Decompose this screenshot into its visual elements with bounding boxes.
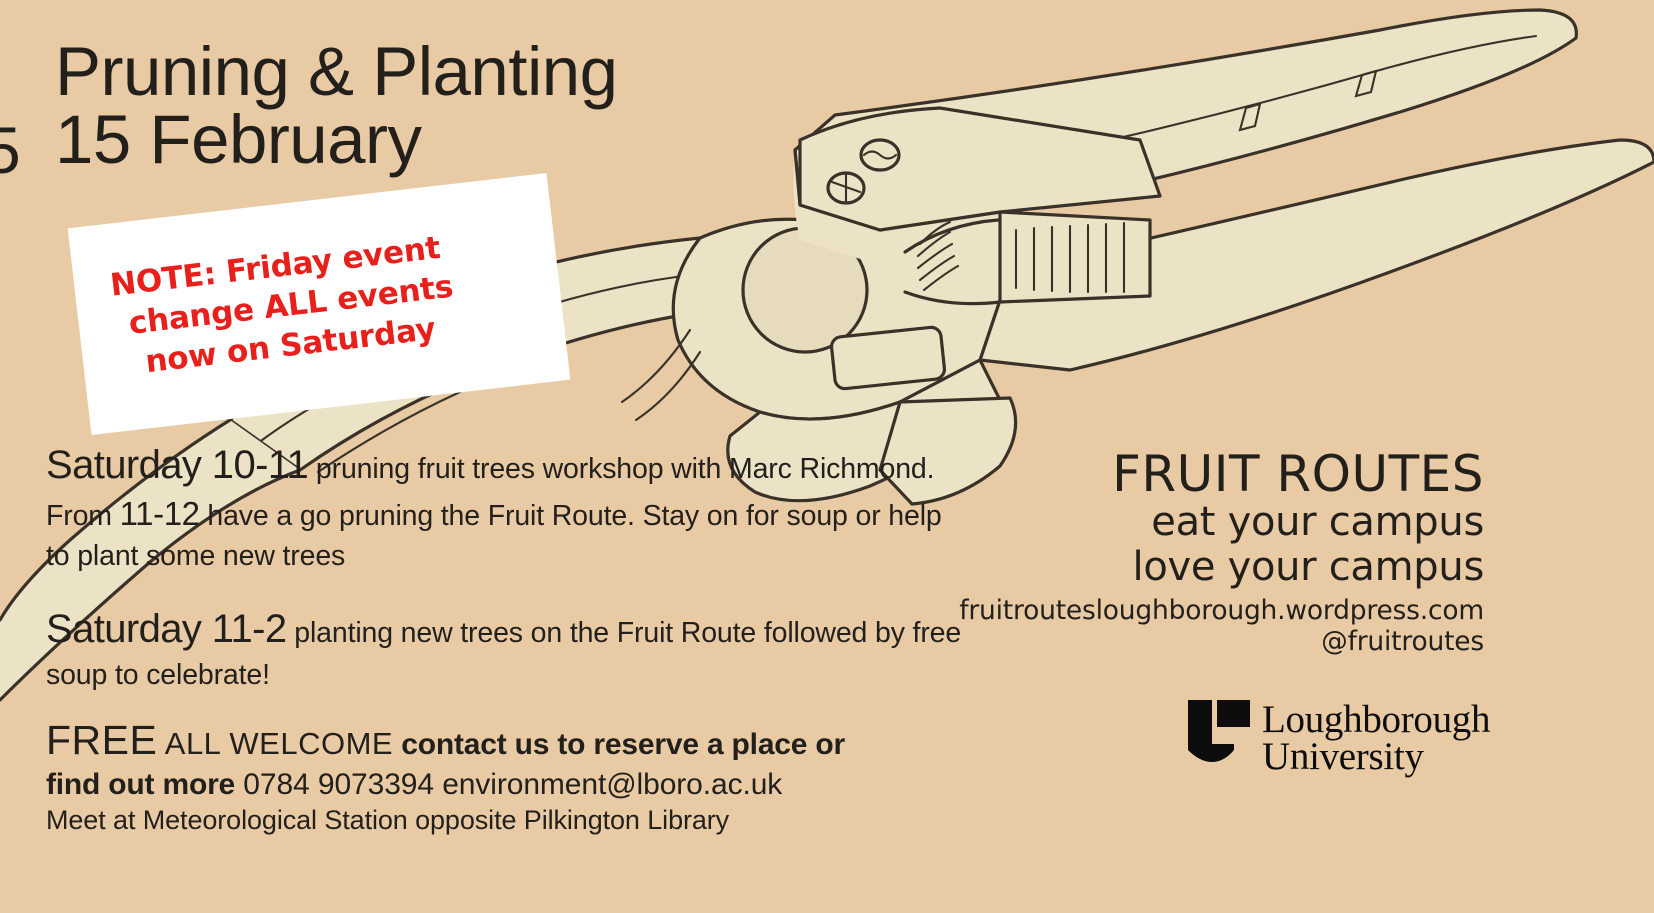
free-label: FREE: [46, 717, 157, 763]
contact-email[interactable]: environment@lboro.ac.uk: [442, 768, 782, 801]
loughborough-university-logo: Loughborough University: [1188, 700, 1490, 776]
booking-line-2: find out more 0784 9073394 environment@l…: [46, 766, 946, 804]
university-name-line-2: University: [1262, 738, 1490, 775]
brand-website[interactable]: fruitroutesloughborough.wordpress.com: [959, 595, 1484, 627]
headline-line-1: Pruning & Planting: [55, 38, 618, 106]
brand-title: FRUIT ROUTES: [959, 448, 1484, 500]
brand-tagline-2: love your campus: [959, 545, 1484, 590]
event-when: Saturday 10-11: [46, 443, 308, 487]
event-time-inline: 11-12: [120, 495, 200, 532]
brand-tagline-1: eat your campus: [959, 500, 1484, 545]
booking-line-1: FREE ALL WELCOME contact us to reserve a…: [46, 715, 946, 766]
headline-line-2: 15 February: [55, 106, 618, 174]
all-welcome-label: [157, 726, 164, 761]
cta-line-2: find out more: [46, 768, 235, 801]
loughborough-logo-text: Loughborough University: [1262, 700, 1490, 776]
event-details: Saturday 10-11 pruning fruit trees works…: [46, 438, 966, 721]
booking-info: FREE ALL WELCOME contact us to reserve a…: [46, 715, 946, 838]
meeting-point: Meet at Meteorological Station opposite …: [46, 804, 946, 838]
event-when: Saturday 11-2: [46, 607, 287, 651]
university-name-line-1: Loughborough: [1262, 701, 1490, 738]
schedule-change-note: NOTE: Friday event change ALL events now…: [68, 173, 571, 435]
contact-spacer-2: [434, 768, 442, 801]
brand-social-handle[interactable]: @fruitroutes: [959, 626, 1484, 658]
event-entry: Saturday 10-11 pruning fruit trees works…: [46, 438, 966, 576]
loughborough-logo-mark: [1188, 700, 1250, 762]
page-title: Pruning & Planting 15 February: [55, 38, 618, 173]
contact-phone[interactable]: 0784 9073394: [243, 768, 434, 801]
cta-line-1: contact us to reserve a place or: [401, 728, 845, 761]
event-entry: Saturday 11-2 planting new trees on the …: [46, 602, 966, 695]
event-paragraph: Saturday 10-11 pruning fruit trees works…: [46, 438, 966, 576]
all-welcome-text: ALL WELCOME: [165, 726, 393, 761]
poster-canvas: .fill { fill: #ece3c6; } .fill2 { fill: …: [0, 0, 1654, 913]
event-paragraph: Saturday 11-2 planting new trees on the …: [46, 602, 966, 695]
cta-spacer: [393, 728, 401, 761]
fruit-routes-branding: FRUIT ROUTES eat your campus love your c…: [959, 448, 1484, 658]
edge-clipped-glyph: 5: [0, 112, 21, 188]
